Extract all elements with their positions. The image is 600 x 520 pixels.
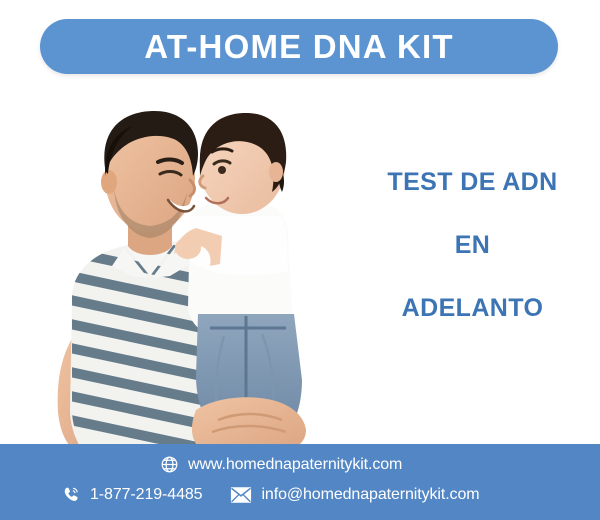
headline-line-1: TEST DE ADN [345,170,600,195]
headline-line-3: ADELANTO [345,296,600,321]
header-banner: AT-HOME DNA KIT [40,19,558,74]
photo-illustration [0,80,345,455]
headline-line-2: EN [345,233,600,258]
footer-website-row[interactable]: www.homednapaternitykit.com [160,455,402,474]
baby-hand [175,237,201,259]
footer-website-text[interactable]: www.homednapaternitykit.com [188,457,402,473]
globe-icon [160,455,179,474]
headline-block: TEST DE ADN EN ADELANTO [345,150,600,321]
phone-icon [62,485,81,504]
footer-email-text[interactable]: info@homednapaternitykit.com [261,487,479,503]
poster-canvas: AT-HOME DNA KIT [0,0,600,520]
footer-contact-row: 1-877-219-4485 info@homednapaternitykit.… [62,485,479,504]
envelope-icon [230,486,252,504]
footer-phone-text[interactable]: 1-877-219-4485 [90,487,202,503]
page-title: AT-HOME DNA KIT [144,30,453,63]
father-and-child-photo [0,80,345,455]
